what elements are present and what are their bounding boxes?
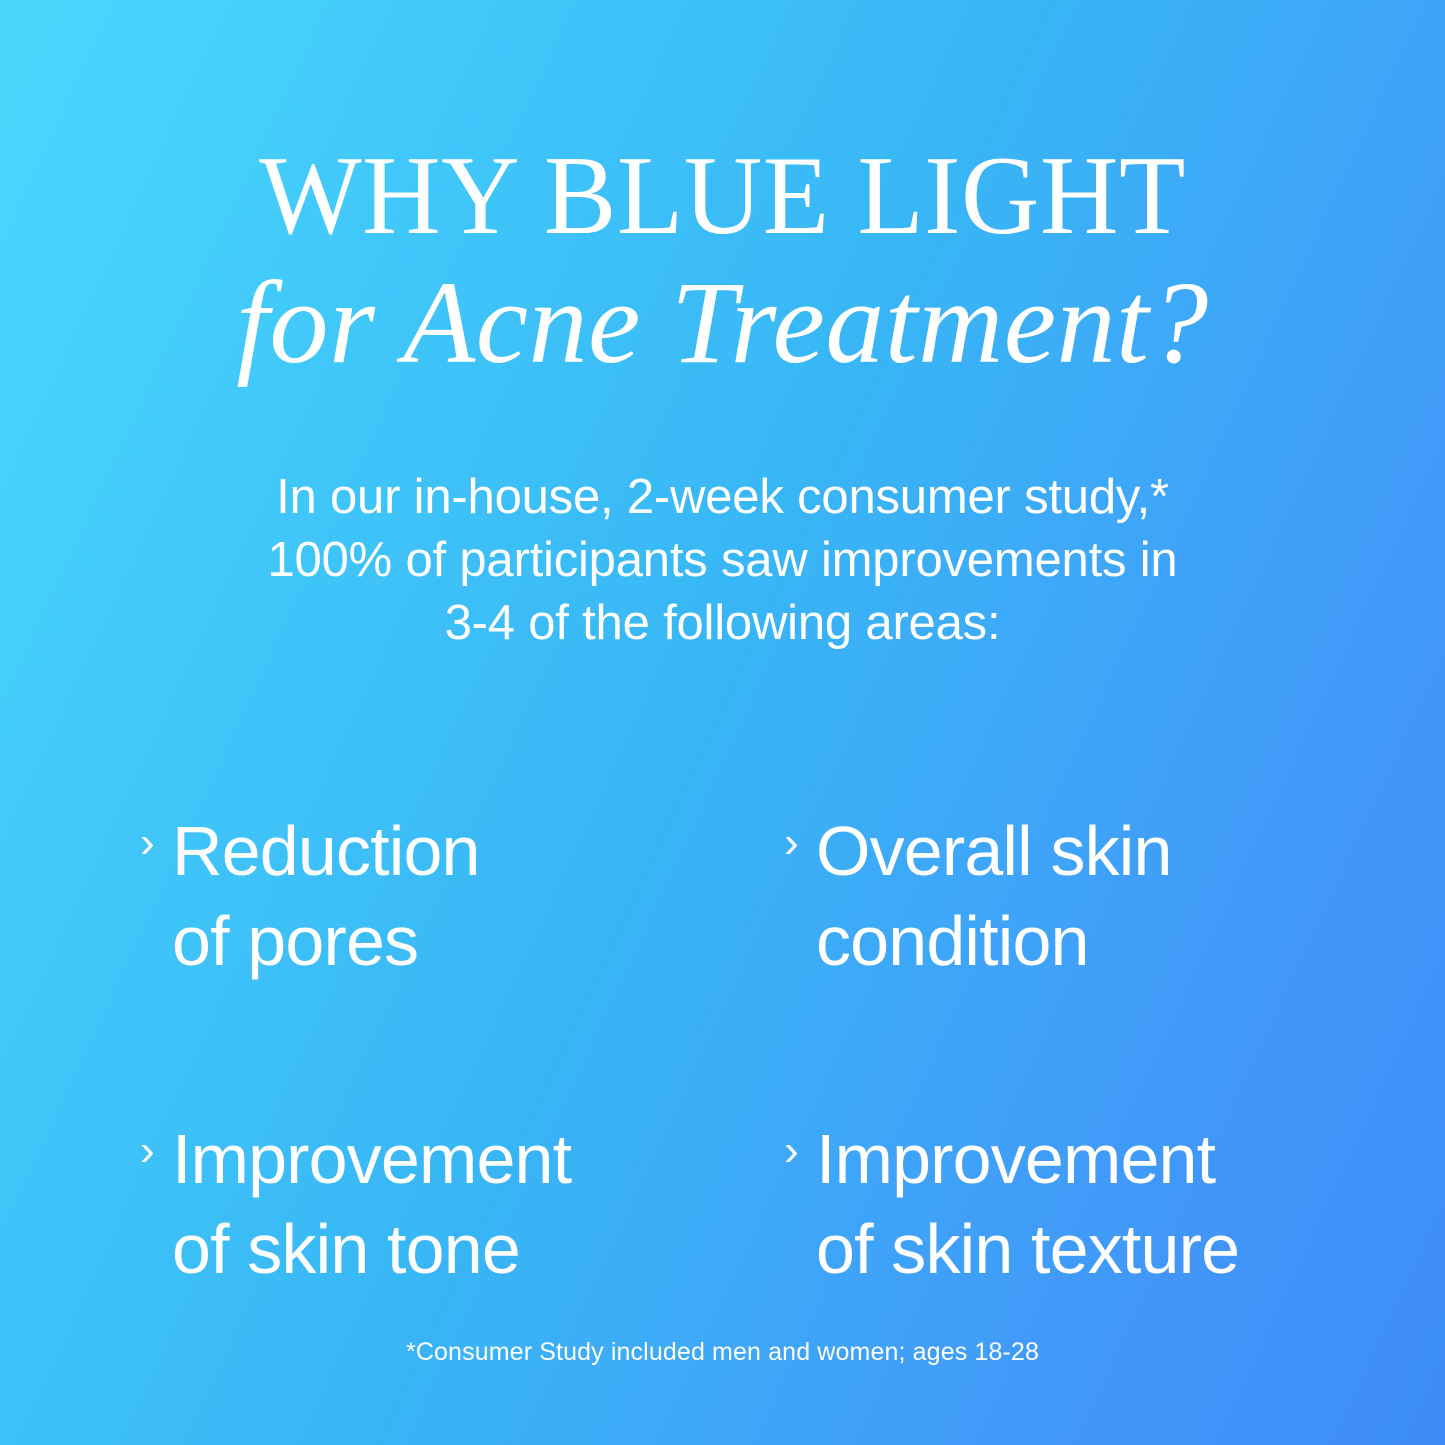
benefit-label: Overall skin condition <box>816 806 1332 986</box>
benefit-label-line-1: Improvement <box>172 1114 784 1204</box>
intro-line-3: 3-4 of the following areas: <box>0 592 1445 655</box>
chevron-right-icon: › <box>784 806 816 880</box>
headline-line-2: for Acne Treatment? <box>0 264 1445 382</box>
intro-line-1: In our in-house, 2-week consumer study,* <box>0 466 1445 529</box>
benefit-label-line-2: of pores <box>172 896 784 986</box>
benefit-label-line-1: Reduction <box>172 806 784 896</box>
chevron-right-icon: › <box>140 806 172 880</box>
benefits-row-bottom: › Improvement of skin tone › Improvement… <box>132 1114 1332 1294</box>
intro-paragraph: In our in-house, 2-week consumer study,*… <box>0 466 1445 655</box>
footnote-disclaimer: *Consumer Study included men and women; … <box>0 1338 1445 1367</box>
benefits-list: › Reduction of pores › Overall skin cond… <box>132 806 1332 1294</box>
benefit-label-line-2: of skin tone <box>172 1204 784 1294</box>
benefit-label-line-2: condition <box>816 896 1332 986</box>
benefit-label-line-1: Overall skin <box>816 806 1332 896</box>
benefit-label-line-2: of skin texture <box>816 1204 1332 1294</box>
benefit-item-improvement-of-skin-tone: › Improvement of skin tone <box>132 1114 784 1294</box>
promo-poster: WHY BLUE LIGHT for Acne Treatment? In ou… <box>0 0 1445 1445</box>
benefit-label: Improvement of skin tone <box>172 1114 784 1294</box>
benefits-row-top: › Reduction of pores › Overall skin cond… <box>132 806 1332 986</box>
benefit-label: Reduction of pores <box>172 806 784 986</box>
benefit-item-reduction-of-pores: › Reduction of pores <box>132 806 784 986</box>
benefit-item-overall-skin-condition: › Overall skin condition <box>784 806 1332 986</box>
headline-line-1: WHY BLUE LIGHT <box>22 140 1424 252</box>
benefit-label-line-1: Improvement <box>816 1114 1332 1204</box>
intro-line-2: 100% of participants saw improvements in <box>0 529 1445 592</box>
benefit-label: Improvement of skin texture <box>816 1114 1332 1294</box>
chevron-right-icon: › <box>784 1114 816 1188</box>
chevron-right-icon: › <box>140 1114 172 1188</box>
page-title: WHY BLUE LIGHT for Acne Treatment? <box>0 140 1445 382</box>
benefit-item-improvement-of-skin-texture: › Improvement of skin texture <box>784 1114 1332 1294</box>
